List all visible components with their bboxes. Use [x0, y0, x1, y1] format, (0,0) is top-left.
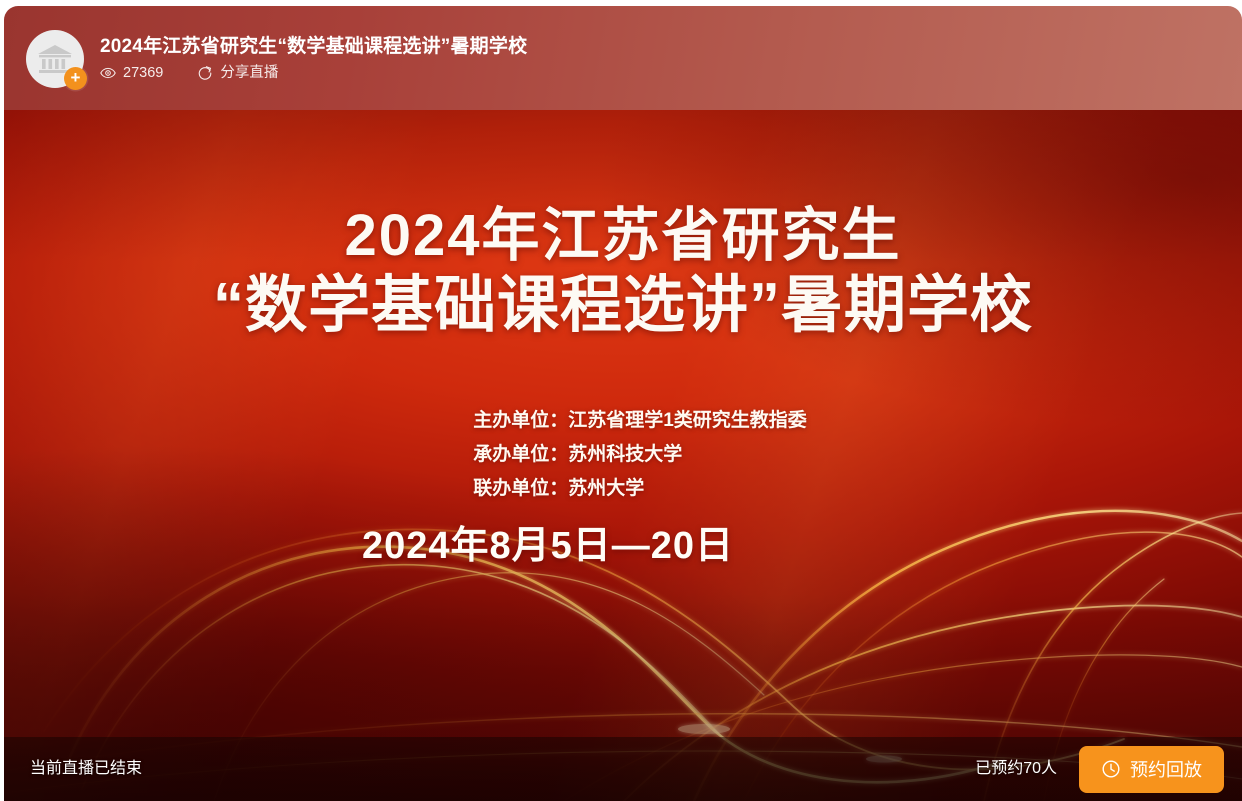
poster-title-line2: “数学基础课程选讲”暑期学校: [213, 270, 1033, 343]
share-stream-button[interactable]: 分享直播: [197, 65, 278, 81]
viewer-count-label: 27369: [123, 66, 163, 81]
share-stream-label: 分享直播: [220, 66, 278, 81]
video-player-stage[interactable]: 2024年江苏省研究生 “数学基础课程选讲”暑期学校 主办单位：江苏省理学1类研…: [4, 110, 1242, 801]
avatar[interactable]: +: [26, 30, 84, 88]
poster-title: 2024年江苏省研究生 “数学基础课程选讲”暑期学校: [213, 202, 1033, 342]
header-meta-row: 27369 分享直播: [100, 65, 527, 81]
clock-icon: [1101, 759, 1121, 779]
eye-icon: [100, 65, 116, 81]
poster-title-line1: 2024年江苏省研究生: [213, 202, 1033, 270]
poster-organizer-coorganizer: 联办单位：苏州大学: [473, 472, 807, 506]
header-text-block: 2024年江苏省研究生“数学基础课程选讲”暑期学校 27369: [100, 35, 527, 82]
book-replay-button[interactable]: 预约回放: [1079, 746, 1224, 793]
follow-plus-badge[interactable]: +: [64, 67, 87, 90]
bottom-bar-actions: 已预约70人 预约回放: [975, 746, 1224, 793]
page-title: 2024年江苏省研究生“数学基础课程选讲”暑期学校: [100, 37, 527, 58]
avatar-badge-label: +: [71, 69, 81, 86]
poster-organizers: 主办单位：江苏省理学1类研究生教指委 承办单位：苏州科技大学 联办单位：苏州大学: [473, 404, 807, 505]
poster-organizer-host: 主办单位：江苏省理学1类研究生教指委: [473, 404, 807, 438]
stream-header: + 2024年江苏省研究生“数学基础课程选讲”暑期学校 27369: [4, 6, 1242, 110]
poster-content: 2024年江苏省研究生 “数学基础课程选讲”暑期学校 主办单位：江苏省理学1类研…: [4, 110, 1242, 801]
player-bottom-bar: 当前直播已结束 已预约70人 预约回放: [4, 737, 1242, 801]
viewer-count: 27369: [100, 65, 163, 81]
poster-date: 2024年8月5日—20日: [362, 514, 734, 569]
poster-organizer-undertaker: 承办单位：苏州科技大学: [473, 438, 807, 472]
book-replay-label: 预约回放: [1130, 756, 1202, 782]
booked-count-label: 已预约70人: [975, 761, 1057, 777]
stream-status-text: 当前直播已结束: [30, 761, 142, 777]
share-rotate-icon: [197, 65, 213, 81]
live-stream-page: + 2024年江苏省研究生“数学基础课程选讲”暑期学校 27369: [0, 0, 1242, 801]
